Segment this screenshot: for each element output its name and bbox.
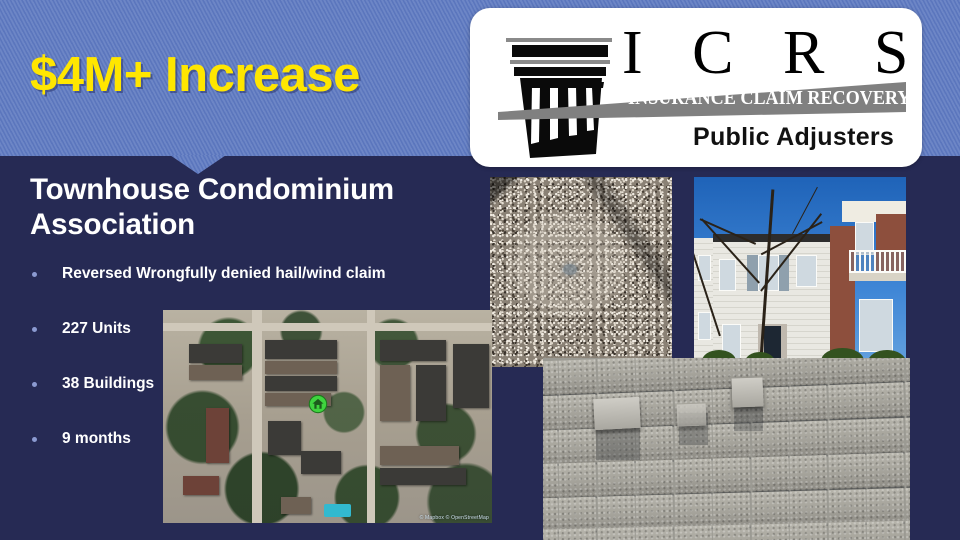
bullet-dot-icon bbox=[32, 437, 37, 442]
lifted-shingle-tab bbox=[677, 403, 707, 426]
map-road bbox=[252, 310, 262, 523]
map-building bbox=[265, 376, 337, 391]
bullet-dot-icon bbox=[32, 272, 37, 277]
list-item-label: 38 Buildings bbox=[62, 375, 154, 392]
map-home-pin-icon bbox=[308, 394, 327, 413]
map-building bbox=[380, 340, 446, 361]
bullet-dot-icon bbox=[32, 382, 37, 387]
photo-wind-damaged-roof bbox=[543, 358, 910, 540]
window bbox=[796, 255, 817, 288]
photo-hail-damage bbox=[490, 177, 672, 367]
window bbox=[859, 299, 893, 352]
map-building bbox=[183, 476, 219, 495]
photo-townhouse-exterior bbox=[694, 177, 906, 381]
list-item: Reversed Wrongfully denied hail/wind cla… bbox=[30, 265, 470, 283]
headline-increase-amount: $4M+ Increase bbox=[30, 47, 360, 103]
balcony-deck bbox=[849, 273, 906, 281]
shingle-rows bbox=[543, 358, 910, 540]
map-building bbox=[380, 468, 466, 485]
bullet-dot-icon bbox=[32, 327, 37, 332]
logo-tagline: INSURANCE CLAIM RECOVERY SUPPORT bbox=[628, 88, 881, 110]
roof-edge bbox=[713, 234, 830, 242]
lifted-shingle-tab bbox=[594, 397, 641, 430]
map-buildings bbox=[163, 310, 492, 523]
map-building bbox=[268, 421, 301, 455]
lifted-shingle-tab bbox=[732, 377, 764, 407]
list-item-label: 9 months bbox=[62, 430, 131, 447]
map-swimming-pool bbox=[324, 504, 350, 517]
window bbox=[719, 259, 736, 292]
case-title: Townhouse Condominium Association bbox=[30, 172, 450, 243]
map-building bbox=[416, 365, 446, 420]
map-building bbox=[189, 344, 242, 363]
map-road bbox=[367, 310, 375, 523]
map-building bbox=[265, 340, 337, 359]
map-building bbox=[380, 446, 459, 465]
map-attribution: © Mapbox © OpenStreetMap bbox=[420, 515, 489, 521]
map-building bbox=[265, 361, 337, 374]
logo-subtitle: Public Adjusters bbox=[693, 123, 894, 152]
balcony-railing bbox=[849, 250, 906, 272]
list-item-label: Reversed Wrongfully denied hail/wind cla… bbox=[62, 265, 386, 282]
list-item-label: 227 Units bbox=[62, 320, 131, 337]
shingle-shading bbox=[490, 177, 672, 367]
map-building bbox=[301, 451, 340, 474]
map-building bbox=[281, 497, 311, 514]
map-building bbox=[206, 408, 229, 463]
map-building bbox=[189, 365, 242, 380]
window bbox=[698, 312, 711, 341]
icrs-logo-card: I C R S INSURANCE CLAIM RECOVERY SUPPORT… bbox=[470, 8, 922, 167]
logo-letters: I C R S bbox=[622, 18, 922, 89]
map-building bbox=[380, 365, 410, 420]
map-road bbox=[163, 323, 492, 332]
map-building bbox=[453, 344, 489, 408]
photo-aerial-map: © Mapbox © OpenStreetMap bbox=[163, 310, 492, 523]
slide-canvas: $4M+ Increase I C R S INSURANCE CLAIM RE… bbox=[0, 0, 960, 540]
